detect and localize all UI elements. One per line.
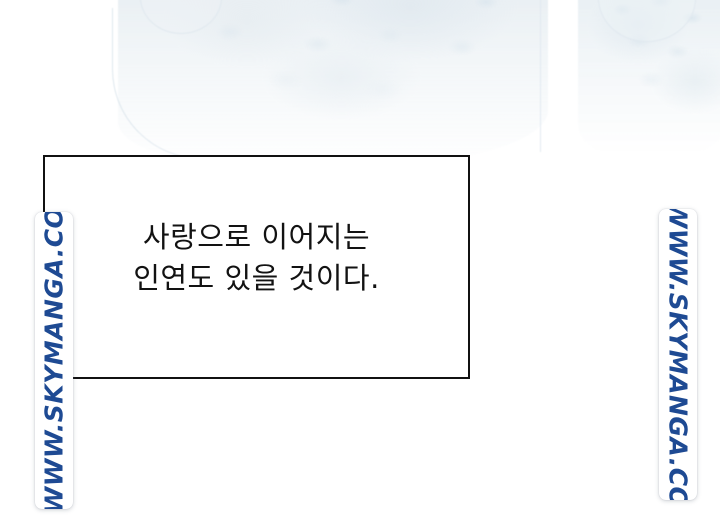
background-contour-line-right (540, 0, 541, 152)
comic-panel: 사랑으로 이어지는 인연도 있을 것이다. WWW.SKYMANGA.CO WW… (0, 0, 720, 517)
watermark-left: WWW.SKYMANGA.CO (35, 212, 73, 509)
dialogue-box: 사랑으로 이어지는 인연도 있을 것이다. (43, 155, 470, 379)
background-circle-left (140, 0, 222, 34)
watermark-right: WWW.SKYMANGA.CO (659, 209, 697, 500)
background-branch-texture (596, 0, 716, 130)
background-leaf-texture (150, 0, 550, 116)
background-circle-right (598, 0, 696, 42)
background-contour-line-left (112, 8, 293, 159)
watermark-right-label: WWW.SKYMANGA.CO (666, 209, 691, 500)
dialogue-text: 사랑으로 이어지는 인연도 있을 것이다. (45, 217, 468, 299)
watermark-left-label: WWW.SKYMANGA.CO (42, 212, 67, 509)
background-foliage-main (118, 0, 548, 165)
background-foliage-right (578, 0, 720, 151)
